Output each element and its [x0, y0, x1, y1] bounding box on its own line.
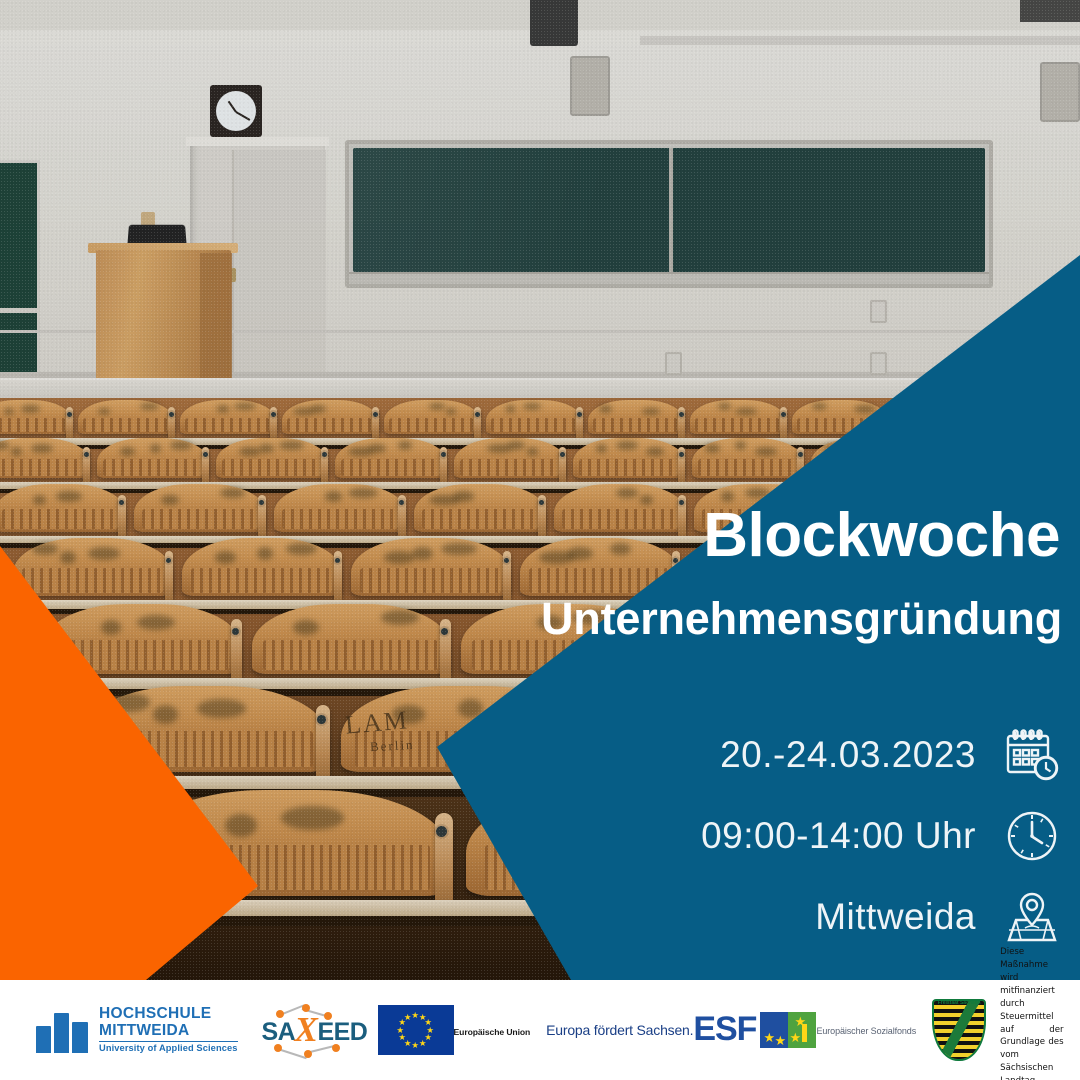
eu-star-icon: ★	[396, 1026, 404, 1035]
info-row-date: 20.-24.03.2023	[642, 720, 1062, 790]
logo-hochschule-mittweida: HOCHSCHULE MITTWEIDA University of Appli…	[36, 1006, 238, 1053]
info-row-location: Mittweida	[642, 882, 1062, 952]
esf-flag-green: ★ ★	[788, 1012, 816, 1048]
eu-star-icon: ★	[411, 1041, 419, 1050]
sachsen-shield-icon	[932, 999, 986, 1061]
eu-star-icon: ★	[419, 1039, 427, 1048]
hochschule-line1: HOCHSCHULE	[99, 1006, 238, 1022]
saxeed-text-right: EED	[318, 1018, 368, 1047]
eu-star-icon: ★	[411, 1011, 419, 1020]
saxeed-node-icon	[276, 1010, 284, 1018]
saxeed-x-icon: X	[295, 1010, 318, 1050]
sponsor-logo-bar: HOCHSCHULE MITTWEIDA University of Appli…	[0, 980, 1080, 1080]
logo-esf: Europa fördert Sachsen. ESF ★ ★ ★ ★ Euro…	[546, 1012, 916, 1048]
poster-canvas: LAMBerlin Blockwoche Unternehmensgründun…	[0, 0, 1080, 1080]
esf-bottom-text: Europäischer Sozialfonds	[816, 1026, 916, 1036]
page-subtitle: Unternehmensgründung	[541, 596, 1062, 641]
hochschule-line2: MITTWEIDA	[99, 1023, 238, 1039]
info-date-text: 20.-24.03.2023	[720, 734, 976, 776]
saxeed-text-left: SA	[262, 1018, 296, 1047]
esf-wordmark: ESF	[693, 1014, 756, 1045]
event-info-list: 20.-24.03.2023	[642, 720, 1062, 963]
info-time-text: 09:00-14:00 Uhr	[701, 815, 976, 857]
eu-caption: Europäische Union	[454, 1027, 531, 1037]
eu-flag-icon: ★★★★★★★★★★★★	[378, 1005, 454, 1055]
logo-saxeed: SA X EED	[262, 1004, 360, 1056]
hochschule-wordmark: HOCHSCHULE MITTWEIDA University of Appli…	[99, 1006, 238, 1053]
info-location-text: Mittweida	[815, 896, 976, 938]
info-row-time: 09:00-14:00 Uhr	[642, 801, 1062, 871]
saxeed-node-icon	[304, 1050, 312, 1058]
sachsen-caption: Freistaat Sachsen	[932, 1000, 986, 1006]
esf-flag-icon: ★ ★ ★ ★	[760, 1012, 816, 1048]
map-pin-icon	[1002, 887, 1062, 947]
page-title: Blockwoche	[703, 505, 1060, 567]
sachsen-rautenkranz	[932, 999, 986, 1061]
funding-note: Diese Maßnahme wird mitfinanziert durch …	[1000, 946, 1063, 1080]
hochschule-rule	[99, 1041, 238, 1043]
calendar-clock-icon	[1002, 725, 1062, 785]
hochschule-book-mark-icon	[36, 1007, 90, 1053]
esf-mark: ESF ★ ★ ★ ★	[693, 1012, 816, 1048]
logo-freistaat-sachsen: Freistaat Sachsen	[932, 999, 986, 1061]
eu-star-icon: ★	[404, 1013, 412, 1022]
logo-european-union: ★★★★★★★★★★★★ Europäische Union	[378, 1005, 531, 1055]
clock-icon	[1002, 806, 1062, 866]
esf-top-text: Europa fördert Sachsen.	[546, 1022, 693, 1038]
hochschule-line3: University of Applied Sciences	[99, 1044, 238, 1053]
esf-flag-blue: ★ ★	[760, 1012, 788, 1048]
